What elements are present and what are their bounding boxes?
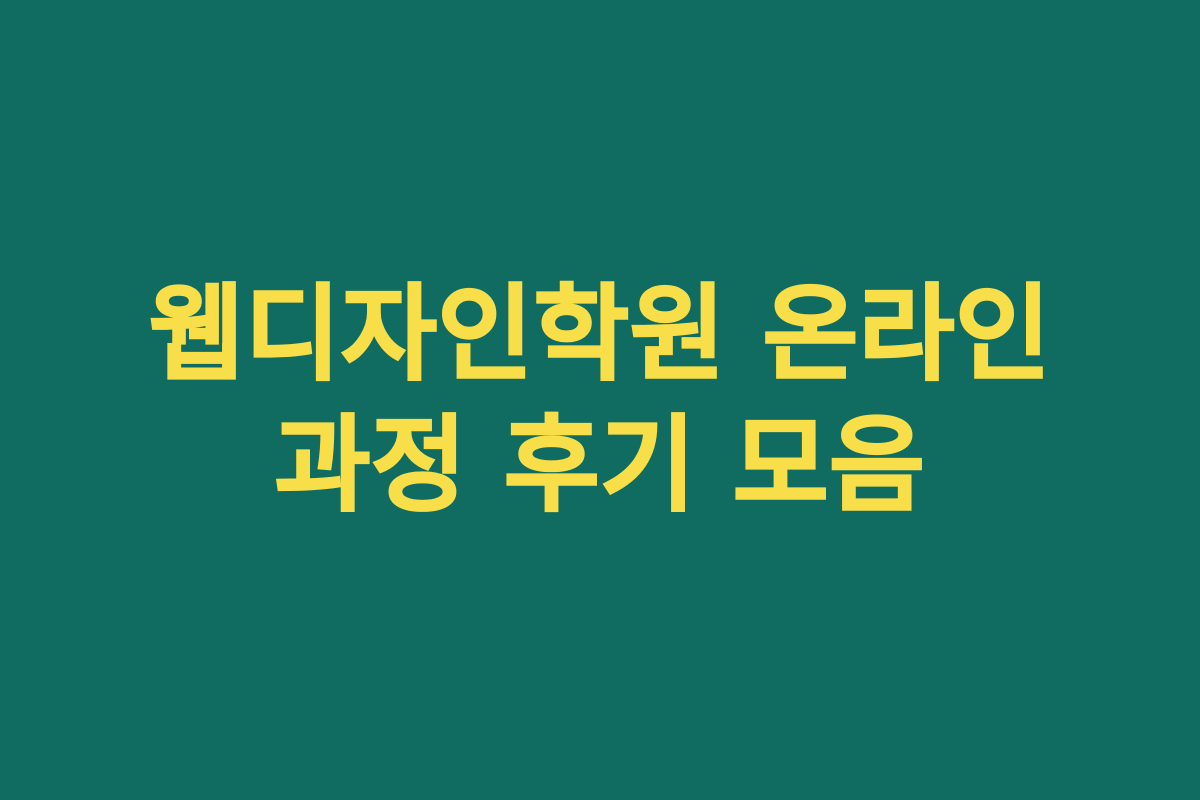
banner-container: 웹디자인학원 온라인 과정 후기 모음 [0, 0, 1200, 800]
banner-text-block: 웹디자인학원 온라인 과정 후기 모음 [95, 269, 1105, 531]
banner-title: 웹디자인학원 온라인 과정 후기 모음 [95, 269, 1105, 531]
